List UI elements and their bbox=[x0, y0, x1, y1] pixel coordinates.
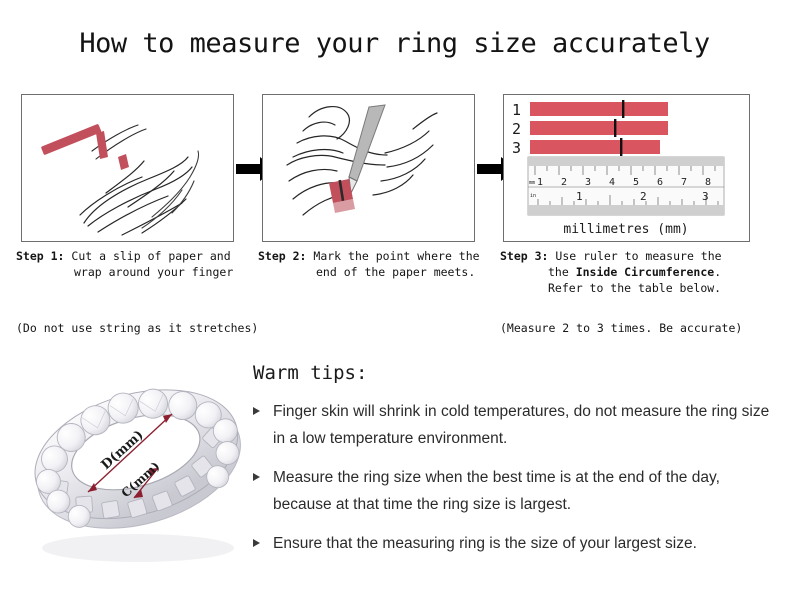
step-1-line1: Cut a slip of paper and bbox=[71, 249, 230, 263]
step-3-label: Step 3: bbox=[500, 249, 548, 263]
warm-tips-heading: Warm tips: bbox=[253, 362, 773, 384]
step-2-line1: Mark the point where the bbox=[313, 249, 479, 263]
svg-text:3: 3 bbox=[585, 177, 591, 188]
svg-text:1: 1 bbox=[537, 177, 543, 188]
warm-tip-text: Finger skin will shrink in cold temperat… bbox=[273, 403, 769, 447]
triangle-bullet-icon bbox=[253, 407, 260, 415]
step-2-caption: Step 2: Mark the point where the end of … bbox=[258, 248, 496, 280]
step-1-caption: Step 1: Cut a slip of paper and wrap aro… bbox=[16, 248, 252, 280]
page-title: How to measure your ring size accurately bbox=[0, 28, 789, 59]
step-3-line1: Use ruler to measure the bbox=[555, 249, 721, 263]
svg-text:2: 2 bbox=[561, 177, 567, 188]
step-3-illustration: 1 2 3 bbox=[503, 94, 750, 242]
step-3-line2-post: . bbox=[714, 265, 721, 279]
step-1-label: Step 1: bbox=[16, 249, 64, 263]
step-3-note: (Measure 2 to 3 times. Be accurate) bbox=[500, 320, 742, 336]
warm-tip-text: Ensure that the measuring ring is the si… bbox=[273, 535, 697, 552]
step-1-line2: wrap around your finger bbox=[16, 264, 252, 280]
step-2-line2: end of the paper meets. bbox=[258, 264, 496, 280]
strip-label-3: 3 bbox=[512, 139, 521, 157]
svg-text:3: 3 bbox=[702, 190, 709, 203]
ring-size-guide: How to measure your ring size accurately bbox=[0, 0, 789, 606]
warm-tip-item: Measure the ring size when the best time… bbox=[253, 464, 773, 518]
step-3-line3: Refer to the table below. bbox=[500, 280, 764, 296]
svg-text:2: 2 bbox=[640, 190, 647, 203]
step-3-caption: Step 3: Use ruler to measure the the Ins… bbox=[500, 248, 764, 296]
step-3-inside-circumference: Inside Circumference bbox=[576, 265, 714, 279]
triangle-bullet-icon bbox=[253, 473, 260, 481]
step-1-illustration bbox=[21, 94, 234, 242]
svg-text:mm: mm bbox=[529, 180, 535, 186]
svg-text:4: 4 bbox=[609, 177, 615, 188]
warm-tips-section: Warm tips: Finger skin will shrink in co… bbox=[253, 362, 773, 569]
ring-diagram: D(mm) C(mm) bbox=[22, 352, 254, 582]
step-panels: 1 2 3 bbox=[0, 94, 789, 244]
step-captions: Step 1: Cut a slip of paper and wrap aro… bbox=[0, 248, 789, 338]
step-1-note: (Do not use string as it stretches) bbox=[16, 320, 258, 336]
step-2-illustration bbox=[262, 94, 475, 242]
svg-text:6: 6 bbox=[657, 177, 663, 188]
warm-tip-text: Measure the ring size when the best time… bbox=[273, 469, 720, 513]
warm-tip-item: Finger skin will shrink in cold temperat… bbox=[253, 398, 773, 452]
svg-text:7: 7 bbox=[681, 177, 687, 188]
triangle-bullet-icon bbox=[253, 539, 260, 547]
strip-label-1: 1 bbox=[512, 101, 521, 119]
svg-text:in: in bbox=[530, 193, 536, 199]
svg-text:1: 1 bbox=[576, 190, 583, 203]
svg-text:8: 8 bbox=[705, 177, 711, 188]
step-2-label: Step 2: bbox=[258, 249, 306, 263]
step-3-line2-pre: the bbox=[548, 265, 576, 279]
ruler-unit-caption: millimetres (mm) bbox=[563, 222, 688, 237]
strip-label-2: 2 bbox=[512, 120, 521, 138]
svg-text:5: 5 bbox=[633, 177, 639, 188]
warm-tip-item: Ensure that the measuring ring is the si… bbox=[253, 530, 773, 557]
